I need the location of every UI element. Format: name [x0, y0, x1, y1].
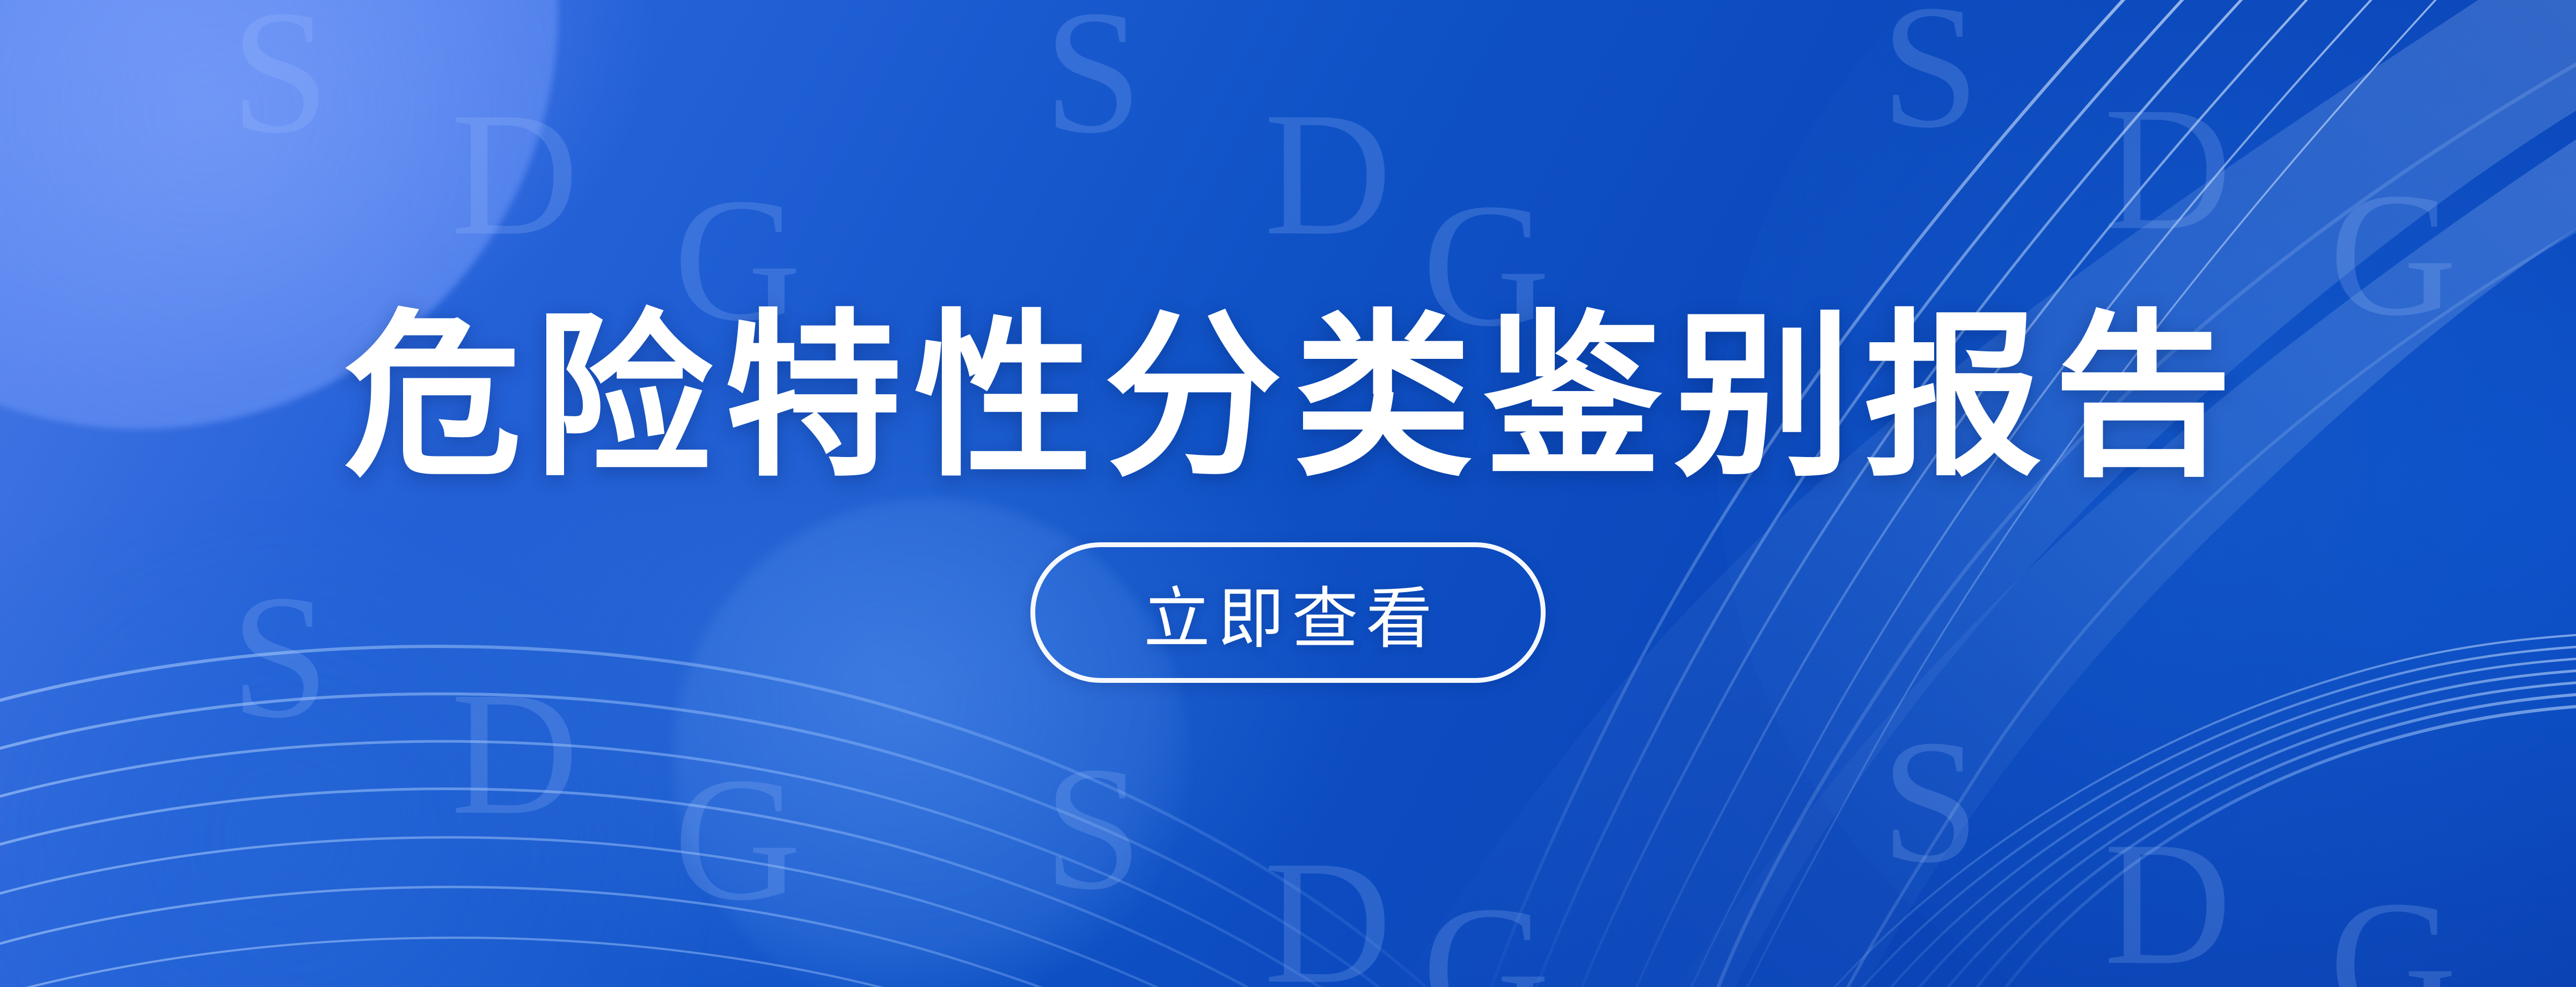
banner-content: 危险特性分类鉴别报告 立即查看: [0, 0, 2576, 987]
view-now-button[interactable]: 立即查看: [1030, 542, 1546, 683]
view-now-button-label: 立即查看: [1136, 564, 1440, 661]
page-title: 危险特性分类鉴别报告: [332, 304, 2244, 491]
promo-banner: SDGSDGSDGSDGSDGSDG: [0, 0, 2576, 987]
